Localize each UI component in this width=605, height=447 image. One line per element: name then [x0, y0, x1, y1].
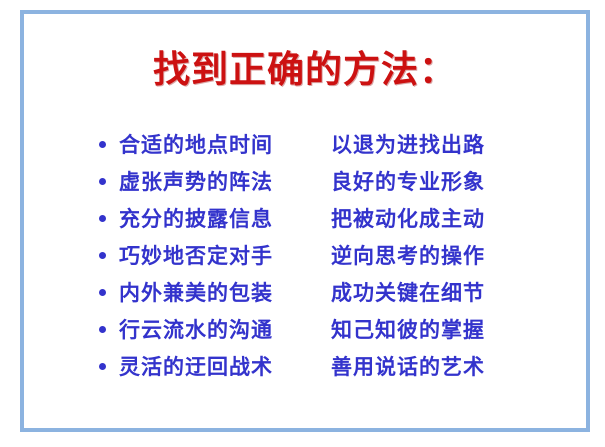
- bullet-dot-icon: [99, 178, 119, 185]
- list-item-right-text: 善用说话的艺术: [331, 354, 485, 380]
- list-item: 灵活的迂回战术 善用说话的艺术: [99, 348, 559, 385]
- list-item: 巧妙地否定对手 逆向思考的操作: [99, 237, 559, 274]
- list-item: 充分的披露信息 把被动化成主动: [99, 200, 559, 237]
- bullet-dot-icon: [99, 289, 119, 296]
- slide-title: 找到正确的方法：: [24, 46, 586, 94]
- list-item-right-text: 成功关键在细节: [331, 280, 485, 306]
- list-item-right-text: 知己知彼的掌握: [331, 317, 485, 343]
- bullet-dot-icon: [99, 363, 119, 370]
- list-item-left-text: 巧妙地否定对手: [119, 243, 331, 269]
- list-item: 行云流水的沟通 知己知彼的掌握: [99, 311, 559, 348]
- list-item-right-text: 逆向思考的操作: [331, 243, 485, 269]
- list-item: 合适的地点时间 以退为进找出路: [99, 126, 559, 163]
- list-item-left-text: 行云流水的沟通: [119, 317, 331, 343]
- list-item-right-text: 把被动化成主动: [331, 206, 485, 232]
- bullet-dot-icon: [99, 215, 119, 222]
- list-item: 虚张声势的阵法 良好的专业形象: [99, 163, 559, 200]
- list-item: 内外兼美的包装 成功关键在细节: [99, 274, 559, 311]
- list-item-left-text: 充分的披露信息: [119, 206, 331, 232]
- list-item-right-text: 以退为进找出路: [331, 132, 485, 158]
- bullet-dot-icon: [99, 252, 119, 259]
- presentation-slide: 找到正确的方法： 合适的地点时间 以退为进找出路 虚张声势的阵法 良好的专业形象…: [0, 0, 605, 447]
- list-item-left-text: 虚张声势的阵法: [119, 169, 331, 195]
- slide-border-frame: 找到正确的方法： 合适的地点时间 以退为进找出路 虚张声势的阵法 良好的专业形象…: [20, 10, 590, 432]
- list-item-left-text: 内外兼美的包装: [119, 280, 331, 306]
- bullet-dot-icon: [99, 141, 119, 148]
- bullet-list: 合适的地点时间 以退为进找出路 虚张声势的阵法 良好的专业形象 充分的披露信息 …: [99, 126, 559, 385]
- list-item-left-text: 合适的地点时间: [119, 132, 331, 158]
- bullet-dot-icon: [99, 326, 119, 333]
- list-item-left-text: 灵活的迂回战术: [119, 354, 331, 380]
- list-item-right-text: 良好的专业形象: [331, 169, 485, 195]
